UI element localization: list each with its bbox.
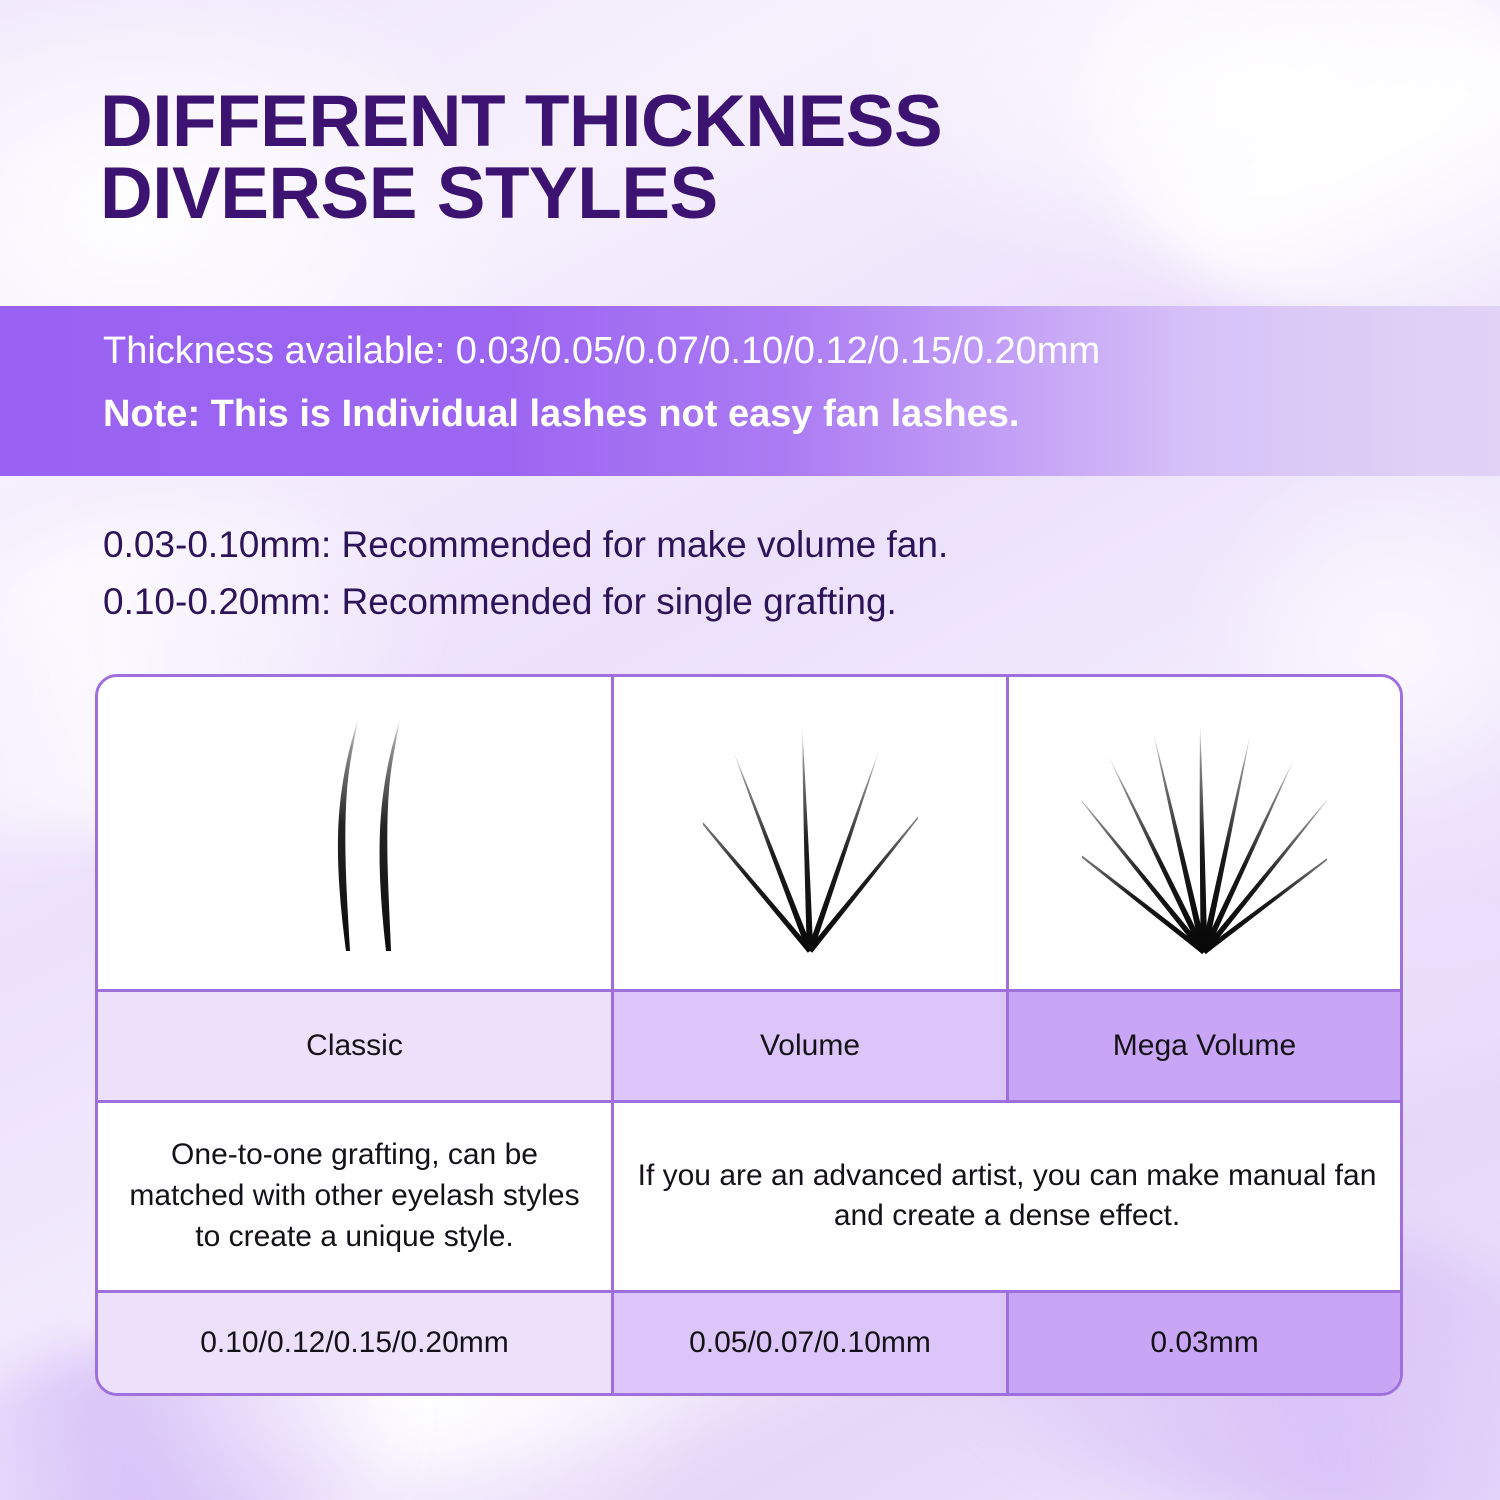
- classic-lash-icon: [270, 708, 440, 958]
- volume-thickness-cell: 0.05/0.07/0.10mm: [614, 1293, 1009, 1393]
- volume-thickness: 0.05/0.07/0.10mm: [689, 1326, 931, 1360]
- classic-label: Classic: [306, 1029, 403, 1063]
- mega-volume-label-cell: Mega Volume: [1009, 992, 1400, 1100]
- thickness-available-text: Thickness available: 0.03/0.05/0.07/0.10…: [103, 332, 1500, 370]
- mega-volume-lash-fan-icon: [1082, 708, 1327, 958]
- lash-style-comparison-table: Classic Volume Mega Volume One-to-one gr…: [95, 674, 1403, 1396]
- mega-volume-thickness-cell: 0.03mm: [1009, 1293, 1400, 1393]
- classic-description-cell: One-to-one grafting, can be matched with…: [98, 1103, 614, 1291]
- mega-volume-illustration-cell: [1009, 677, 1400, 989]
- infographic-page: DIFFERENT THICKNESS DIVERSE STYLES Thick…: [0, 0, 1500, 1500]
- volume-lash-fan-icon: [703, 711, 918, 956]
- volume-illustration-cell: [614, 677, 1009, 989]
- table-row-thickness: 0.10/0.12/0.15/0.20mm 0.05/0.07/0.10mm 0…: [98, 1290, 1400, 1393]
- volume-label: Volume: [760, 1029, 860, 1063]
- recommendation-line-2: 0.10-0.20mm: Recommended for single graf…: [103, 573, 948, 630]
- volume-mega-description-cell: If you are an advanced artist, you can m…: [614, 1103, 1400, 1291]
- volume-label-cell: Volume: [614, 992, 1009, 1100]
- classic-thickness-cell: 0.10/0.12/0.15/0.20mm: [98, 1293, 614, 1393]
- thickness-banner: Thickness available: 0.03/0.05/0.07/0.10…: [0, 306, 1500, 476]
- merged-description: If you are an advanced artist, you can m…: [614, 1156, 1400, 1238]
- recommendation-list: 0.03-0.10mm: Recommended for make volume…: [103, 516, 948, 631]
- page-title: DIFFERENT THICKNESS DIVERSE STYLES: [100, 86, 1300, 231]
- recommendation-line-1: 0.03-0.10mm: Recommended for make volume…: [103, 516, 948, 573]
- classic-illustration-cell: [98, 677, 614, 989]
- classic-label-cell: Classic: [98, 992, 614, 1100]
- banner-note-text: Note: This is Individual lashes not easy…: [103, 395, 1500, 433]
- classic-description: One-to-one grafting, can be matched with…: [98, 1135, 611, 1257]
- table-row-style-labels: Classic Volume Mega Volume: [98, 989, 1400, 1100]
- mega-volume-thickness: 0.03mm: [1150, 1326, 1258, 1360]
- table-row-descriptions: One-to-one grafting, can be matched with…: [98, 1100, 1400, 1291]
- table-row-illustrations: [98, 677, 1400, 989]
- mega-volume-label: Mega Volume: [1113, 1029, 1296, 1063]
- classic-thickness: 0.10/0.12/0.15/0.20mm: [200, 1326, 509, 1360]
